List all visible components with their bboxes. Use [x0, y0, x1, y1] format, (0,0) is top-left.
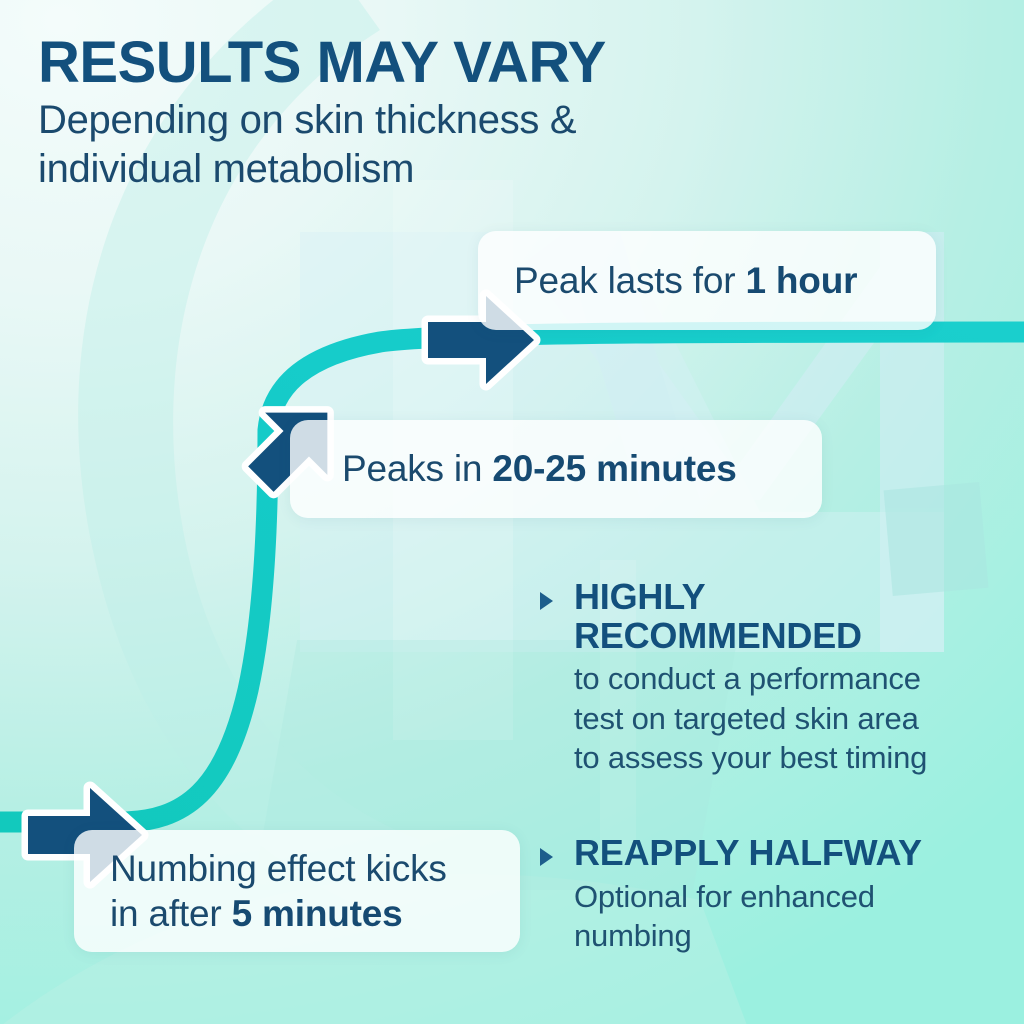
- subtitle-line-2: individual metabolism: [38, 147, 414, 191]
- tip-text-line-2: test on targeted skin area: [574, 701, 919, 736]
- subtitle-line-1: Depending on skin thickness &: [38, 98, 576, 142]
- tip-reapply-line-2: numbing: [574, 918, 692, 953]
- callout-onset-line-1: Numbing effect kicks: [110, 846, 447, 891]
- callout-peak-time: Peaks in 20-25 minutes: [290, 420, 822, 518]
- tip-highly-recommended-body: HIGHLY RECOMMENDED to conduct a performa…: [540, 578, 1010, 778]
- tip-reapply-halfway: REAPPLY HALFWAY Optional for enhanced nu…: [540, 834, 1010, 956]
- tip-highly-recommended-heading: HIGHLY RECOMMENDED: [574, 578, 1010, 655]
- callout-onset-value: 5 minutes: [232, 893, 403, 934]
- page-subtitle: Depending on skin thickness & individual…: [38, 96, 698, 194]
- callout-onset: Numbing effect kicks in after 5 minutes: [74, 830, 520, 952]
- page-title: RESULTS MAY VARY: [38, 34, 698, 92]
- tip-reapply-halfway-heading: REAPPLY HALFWAY: [574, 834, 1010, 873]
- tip-heading-line-1: HIGHLY: [574, 576, 706, 617]
- callout-peak-duration-text: Peak lasts for 1 hour: [514, 259, 857, 303]
- tip-text-line-3: to assess your best timing: [574, 740, 927, 775]
- callout-peak-time-prefix: Peaks in: [342, 448, 492, 489]
- header-block: RESULTS MAY VARY Depending on skin thick…: [38, 34, 698, 194]
- callout-peak-time-text: Peaks in 20-25 minutes: [342, 447, 737, 491]
- callout-peak-duration-prefix: Peak lasts for: [514, 260, 745, 301]
- callout-peak-duration-value: 1 hour: [745, 260, 857, 301]
- triangle-bullet-icon: [540, 592, 553, 610]
- tip-text-line-1: to conduct a performance: [574, 661, 921, 696]
- triangle-bullet-icon: [540, 848, 553, 866]
- infographic-canvas: RESULTS MAY VARY Depending on skin thick…: [0, 0, 1024, 1024]
- tip-highly-recommended-text: to conduct a performance test on targete…: [574, 659, 1010, 778]
- tip-reapply-line-1: Optional for enhanced: [574, 879, 875, 914]
- tip-reapply-halfway-body: REAPPLY HALFWAY Optional for enhanced nu…: [540, 834, 1010, 956]
- tip-heading-line-2: RECOMMENDED: [574, 615, 862, 656]
- callout-onset-line-2: in after 5 minutes: [110, 891, 403, 936]
- tip-highly-recommended: HIGHLY RECOMMENDED to conduct a performa…: [540, 578, 1010, 778]
- tip-reapply-halfway-text: Optional for enhanced numbing: [574, 877, 1010, 956]
- callout-onset-prefix: in after: [110, 893, 232, 934]
- callout-peak-duration: Peak lasts for 1 hour: [478, 231, 936, 330]
- callout-peak-time-value: 20-25 minutes: [492, 448, 736, 489]
- tips-list: HIGHLY RECOMMENDED to conduct a performa…: [540, 578, 1010, 980]
